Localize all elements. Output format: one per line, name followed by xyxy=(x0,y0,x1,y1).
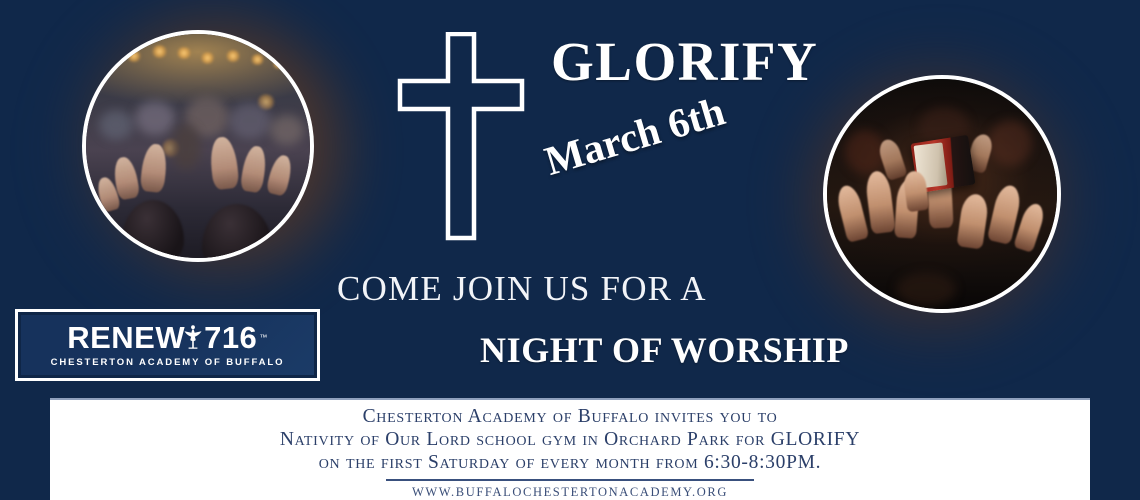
panel-divider xyxy=(386,479,754,481)
event-date: March 6th xyxy=(539,86,730,185)
renew-716-logo: RENEW 716 ™ CHESTERTON ACADEMY OF BUFFAL… xyxy=(15,309,320,381)
logo-wordmark: RENEW 716 ™ xyxy=(67,322,268,353)
photo-worship-crowd xyxy=(82,30,314,262)
page-title: GLORIFY xyxy=(551,34,818,89)
info-line-3: on the first Saturday of every month fro… xyxy=(50,451,1090,474)
latin-cross-icon xyxy=(392,32,526,247)
info-line-1: Chesterton Academy of Buffalo invites yo… xyxy=(50,405,1090,428)
info-line-2: Nativity of Our Lord school gym in Orcha… xyxy=(50,428,1090,451)
info-panel: Chesterton Academy of Buffalo invites yo… xyxy=(50,398,1090,500)
logo-word-renew: RENEW xyxy=(67,322,185,353)
photo-worship-crowd-image xyxy=(86,34,310,258)
logo-subtitle: CHESTERTON ACADEMY OF BUFFALO xyxy=(51,357,285,368)
event-name: NIGHT OF WORSHIP xyxy=(480,329,849,371)
photo-hands-holding-bible xyxy=(823,75,1061,313)
dove-icon xyxy=(178,323,208,353)
invite-subheading: COME JOIN US FOR A xyxy=(337,269,707,309)
glorify-event-banner: GLORIFY March 6th COME JOIN US FOR A NIG… xyxy=(0,0,1140,500)
photo-hands-holding-bible-image xyxy=(827,79,1057,309)
logo-trademark: ™ xyxy=(259,334,268,342)
logo-word-716: 716 xyxy=(204,322,257,353)
website-url[interactable]: WWW.BUFFALOCHESTERTONACADEMY.ORG xyxy=(50,485,1090,500)
